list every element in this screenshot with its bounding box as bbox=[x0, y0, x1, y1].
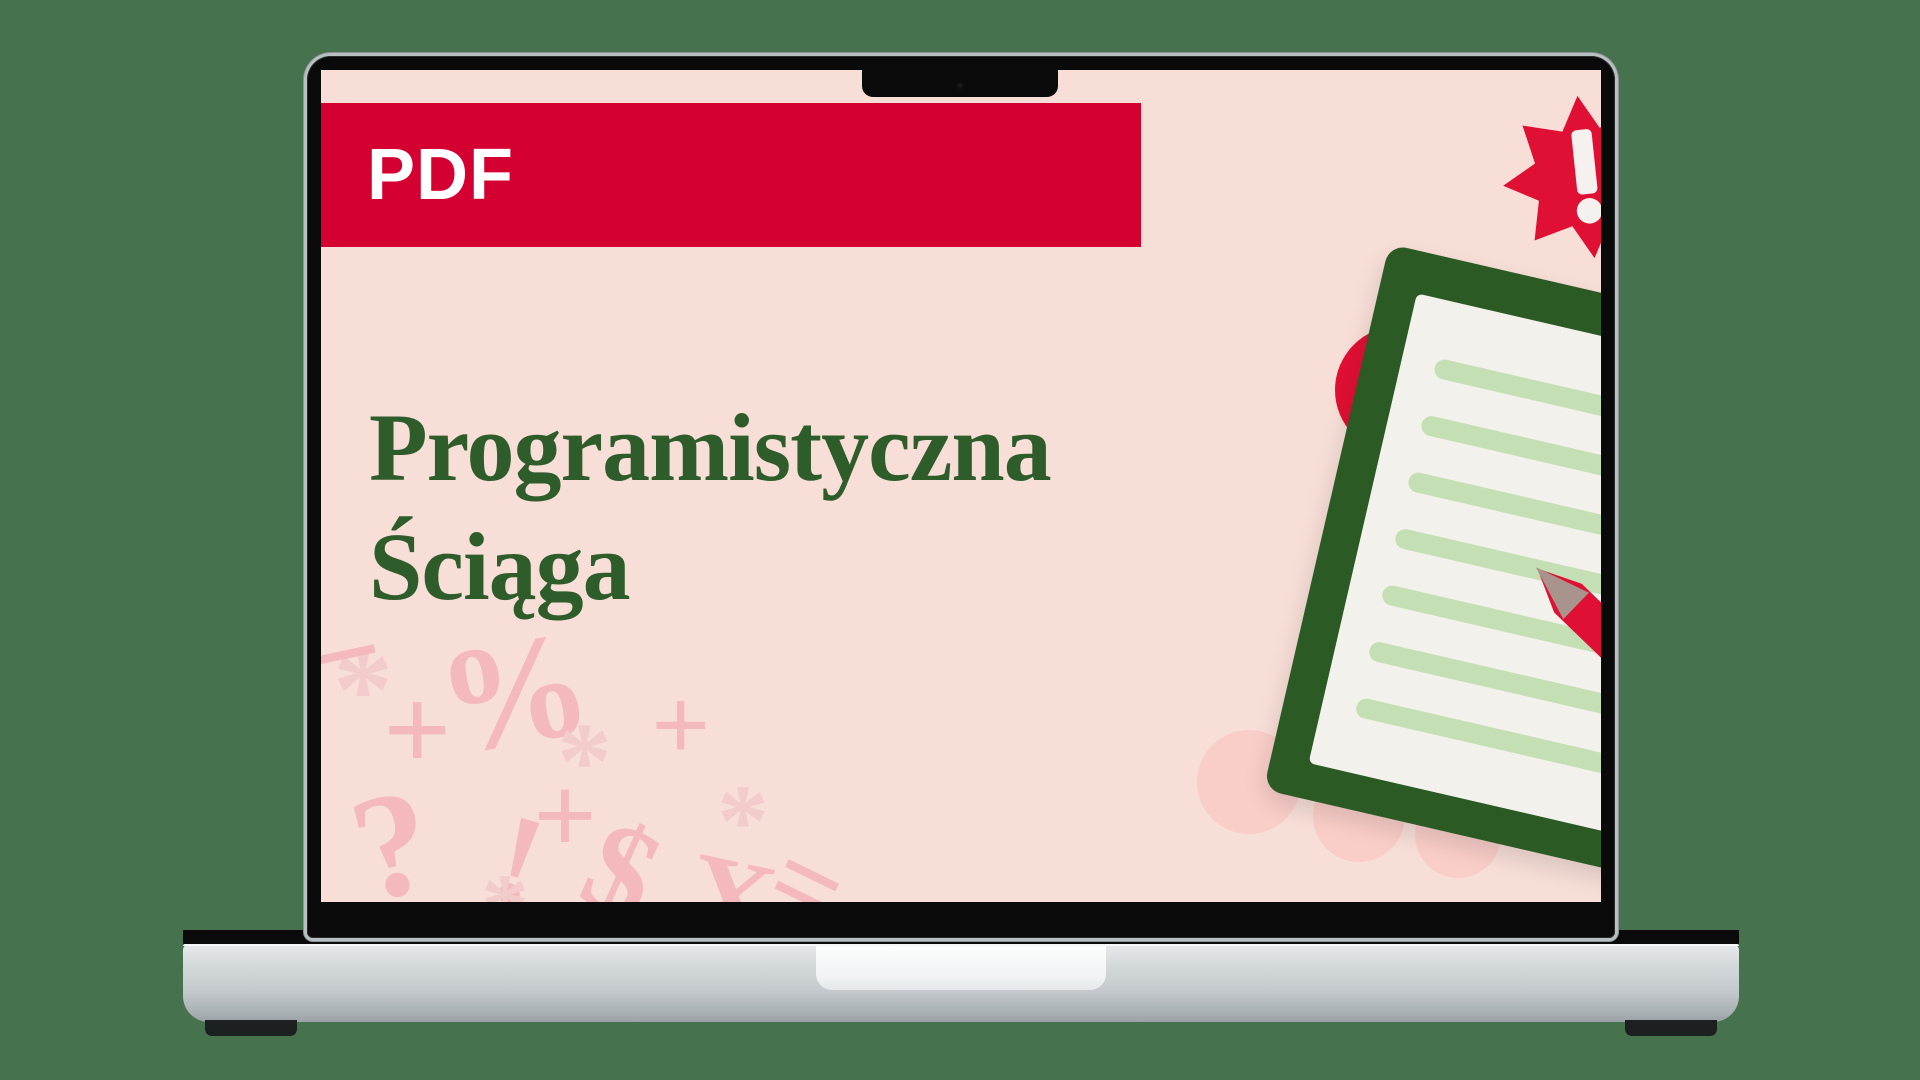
base-notch bbox=[816, 944, 1106, 990]
pdf-badge-bar: PDF bbox=[321, 103, 1141, 247]
slide-title: Programistyczna Ściąga bbox=[369, 388, 1109, 626]
decorative-symbol: ? bbox=[338, 763, 447, 902]
laptop-foot bbox=[1625, 1020, 1717, 1036]
decorative-symbol: * bbox=[481, 860, 529, 902]
canvas: %+++?!$X=****− PDF Programistyczna Ściąg… bbox=[0, 0, 1920, 1080]
decorative-symbol: = bbox=[750, 817, 864, 902]
screen-notch bbox=[862, 70, 1058, 97]
illustration bbox=[1071, 70, 1601, 902]
exclamation-starburst-icon bbox=[1493, 84, 1601, 271]
screen: %+++?!$X=****− PDF Programistyczna Ściąg… bbox=[321, 70, 1601, 902]
decorative-symbol: * bbox=[557, 706, 612, 816]
title-line-1: Programistyczna bbox=[369, 388, 1109, 507]
laptop-mockup: %+++?!$X=****− PDF Programistyczna Ściąg… bbox=[0, 0, 1920, 1080]
pdf-badge-label: PDF bbox=[367, 139, 514, 211]
decorative-symbol: $ bbox=[565, 798, 677, 902]
decorative-symbol: * bbox=[333, 630, 393, 750]
decorative-symbol: X bbox=[675, 832, 785, 902]
decorative-symbol: + bbox=[383, 670, 451, 790]
decorative-symbol: + bbox=[533, 760, 597, 872]
decorative-symbol: + bbox=[651, 674, 710, 778]
decorative-symbol: * bbox=[717, 770, 769, 874]
decorative-symbol: ! bbox=[480, 793, 557, 902]
decorative-symbol: % bbox=[427, 606, 601, 780]
laptop-base bbox=[183, 944, 1739, 1022]
camera-icon bbox=[956, 81, 965, 90]
title-line-2: Ściąga bbox=[369, 507, 1109, 626]
clipboard-icon bbox=[1263, 244, 1601, 884]
laptop-foot bbox=[205, 1020, 297, 1036]
